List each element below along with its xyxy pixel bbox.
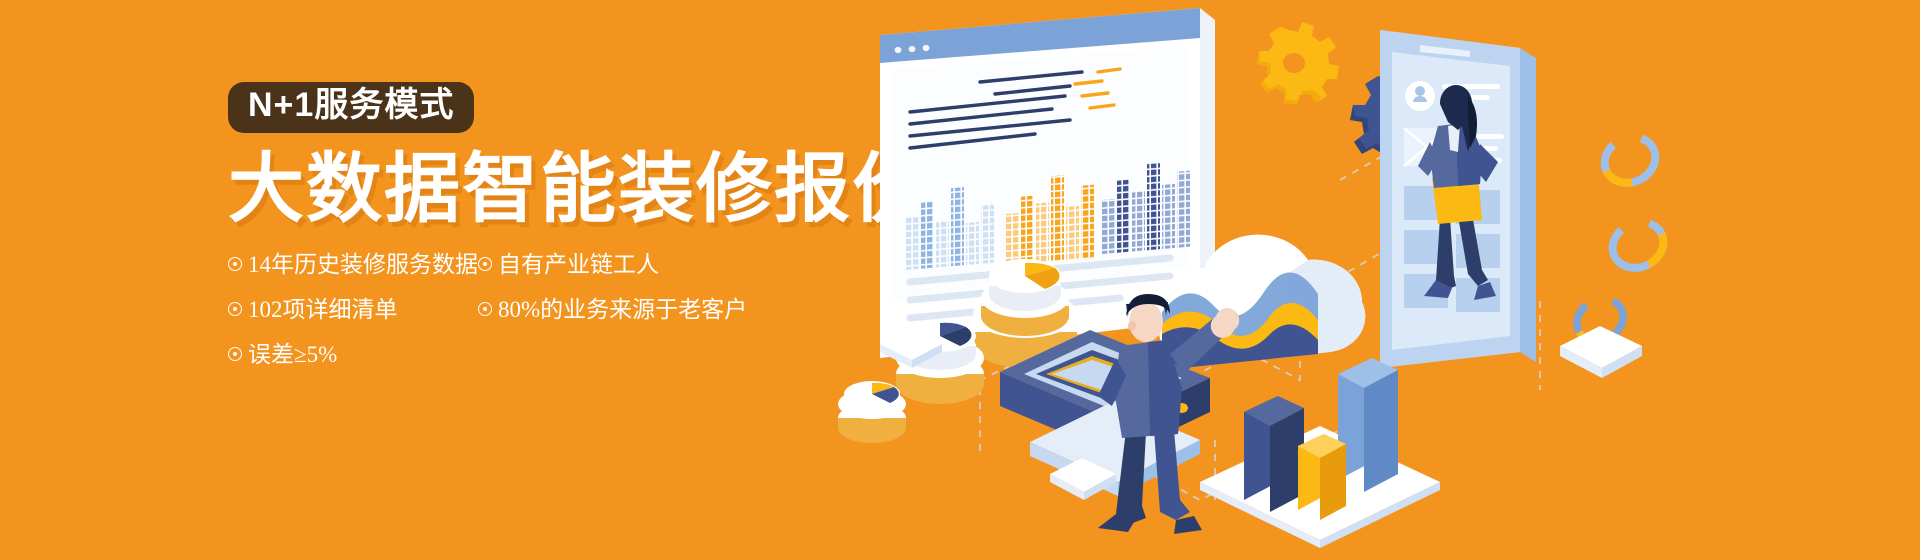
gear-orange	[1257, 22, 1339, 105]
list-item: 自有产业链工人	[478, 253, 778, 276]
floating-card	[1560, 326, 1642, 378]
ring-shapes	[1569, 129, 1671, 349]
promo-banner: N+1服务模式 大数据智能装修报价 14年历史装修服务数据 102项详细清单 误…	[0, 0, 1920, 560]
bullet-dot-icon	[228, 347, 242, 361]
bullet-dot-icon	[228, 302, 242, 316]
feature-list-left-column: 14年历史装修服务数据 102项详细清单 误差≥5%	[228, 253, 478, 388]
bullet-dot-icon	[478, 302, 492, 316]
list-item: 误差≥5%	[228, 343, 478, 366]
bullet-dot-icon	[228, 257, 242, 271]
bullet-dot-icon	[478, 257, 492, 271]
list-item-label: 80%的业务来源于老客户	[498, 298, 747, 321]
list-item: 80%的业务来源于老客户	[478, 298, 778, 321]
list-item-label: 自有产业链工人	[498, 253, 659, 276]
service-mode-badge: N+1服务模式	[228, 82, 474, 133]
list-item-label: 14年历史装修服务数据	[248, 253, 478, 276]
list-item: 14年历史装修服务数据	[228, 253, 478, 276]
list-item-label: 误差≥5%	[248, 343, 337, 366]
isometric-illustration	[820, 0, 1920, 560]
feature-list-right-column: 自有产业链工人 80%的业务来源于老客户	[478, 253, 778, 343]
bar-chart-3d	[1200, 358, 1440, 548]
list-item: 102项详细清单	[228, 298, 478, 321]
list-item-label: 102项详细清单	[248, 298, 398, 321]
